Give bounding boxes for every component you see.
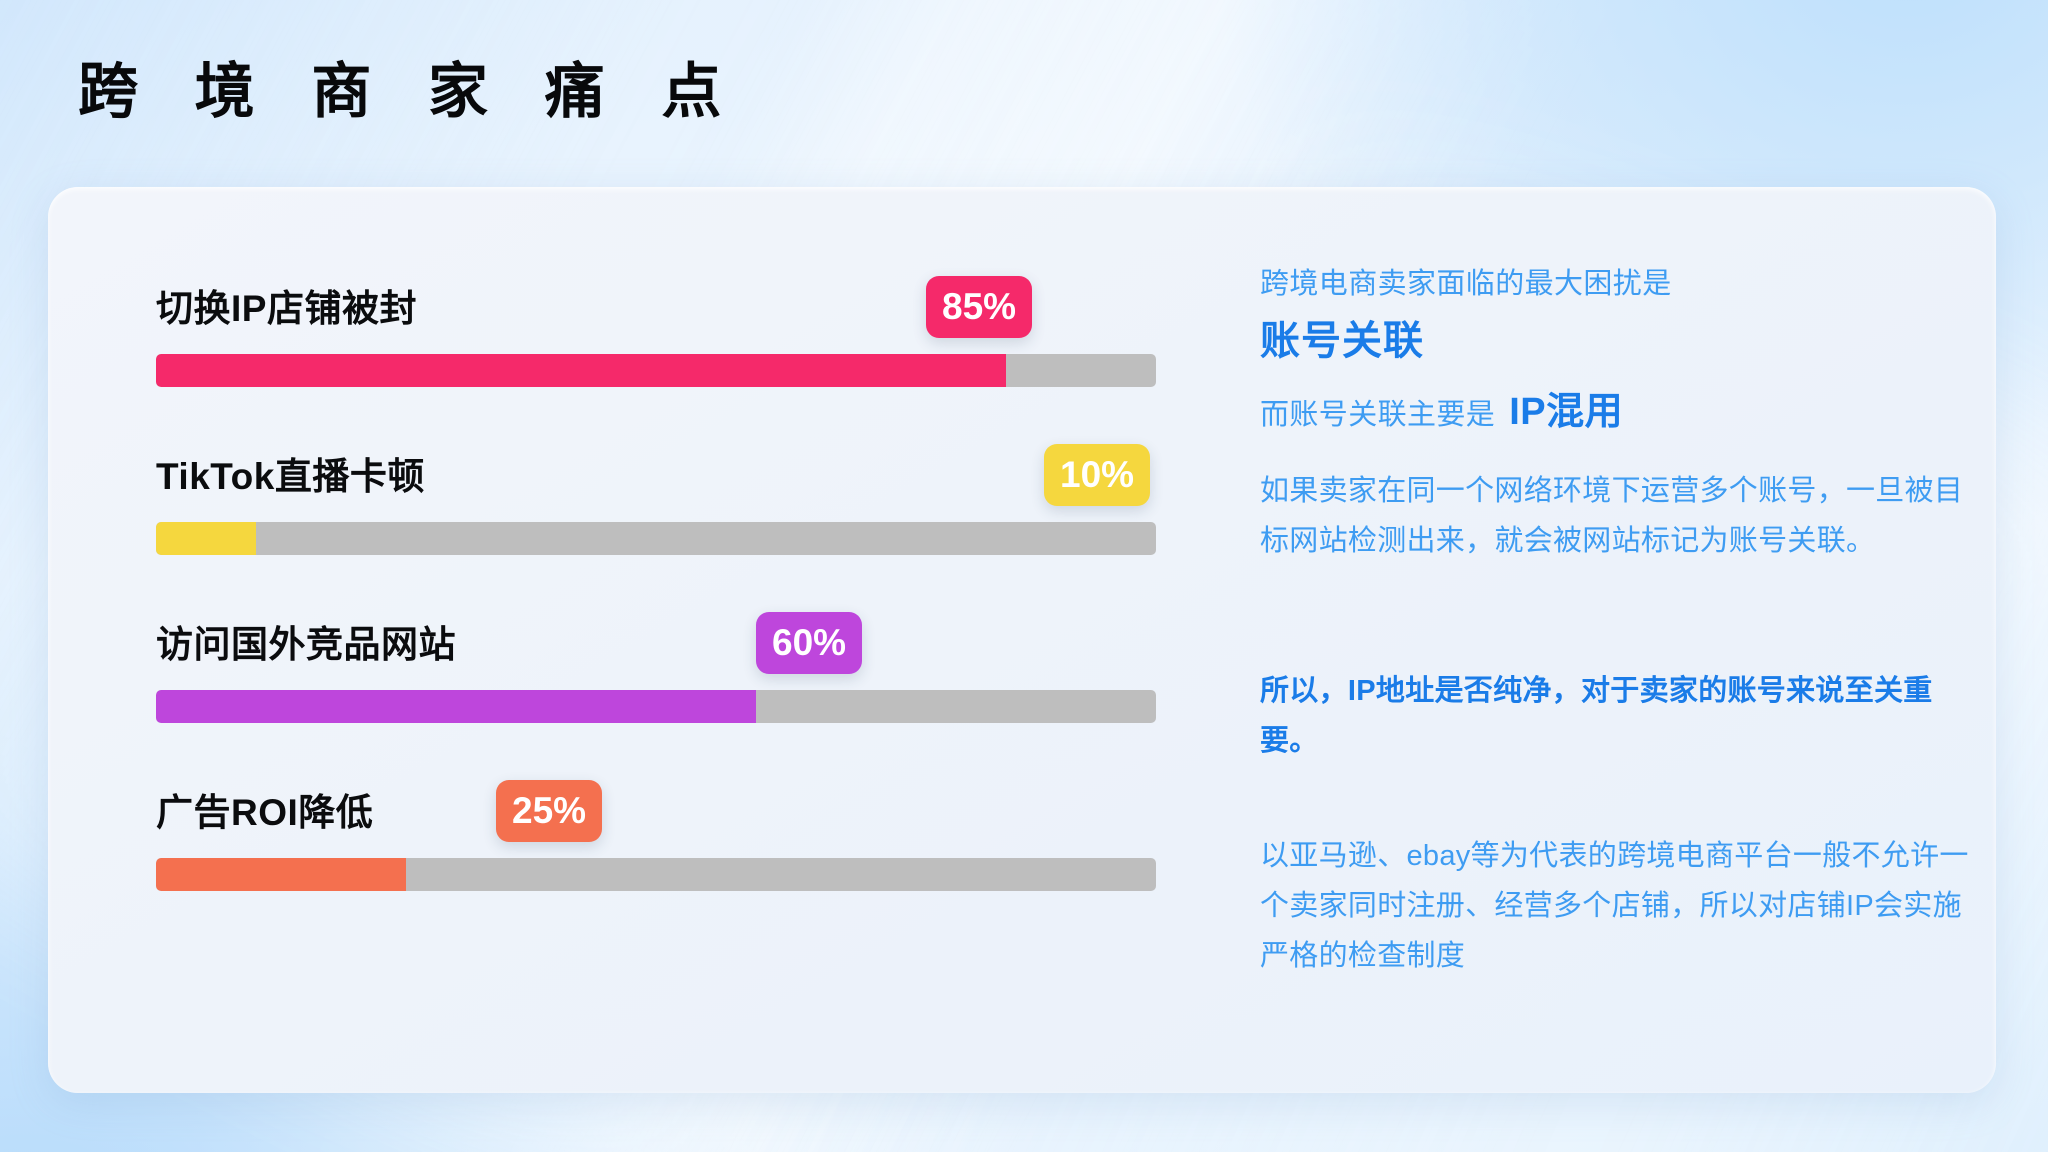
stat-progress-fill [156, 690, 756, 723]
explanation-paragraph-3: 以亚马逊、ebay等为代表的跨境电商平台一般不允许一个卖家同时注册、经营多个店铺… [1260, 832, 1990, 982]
stat-header: 广告ROI降低 25% [48, 751, 1178, 846]
mix-row: 而账号关联主要是 IP混用 [1260, 380, 2000, 439]
explanation-paragraph-1: 如果卖家在同一个网络环境下运营多个账号，一旦被目标网站检测出来，就会被网站标记为… [1260, 467, 1990, 567]
content-card: 切换IP店铺被封 85% TikTok直播卡顿 10% 访问国外竞品网站 60% [48, 187, 1996, 1093]
pain-point-stats-panel: 切换IP店铺被封 85% TikTok直播卡顿 10% 访问国外竞品网站 60% [48, 187, 1178, 1093]
hero-term: 账号关联 [1260, 314, 2000, 368]
stat-progress-track [156, 522, 1156, 555]
stat-progress-track [156, 690, 1156, 723]
mix-prefix: 而账号关联主要是 [1260, 392, 1495, 439]
stat-progress-track [156, 858, 1156, 891]
stat-value-badge: 25% [496, 780, 602, 842]
explanation-panel: 跨境电商卖家面临的最大困扰是 账号关联 而账号关联主要是 IP混用 如果卖家在同… [1212, 187, 1972, 1093]
stat-row: TikTok直播卡顿 10% [48, 415, 1178, 565]
page-title: 跨 境 商 家 痛 点 [78, 62, 741, 122]
stat-label: 广告ROI降低 [156, 782, 373, 836]
stat-value-badge: 85% [926, 276, 1032, 338]
stat-label: 访问国外竞品网站 [156, 614, 456, 668]
stat-row: 访问国外竞品网站 60% [48, 583, 1178, 733]
stat-header: 访问国外竞品网站 60% [48, 583, 1178, 678]
stat-progress-fill [156, 522, 256, 555]
stat-label: 切换IP店铺被封 [156, 278, 417, 332]
stat-row: 广告ROI降低 25% [48, 751, 1178, 901]
intro-block: 跨境电商卖家面临的最大困扰是 账号关联 而账号关联主要是 IP混用 [1260, 261, 2000, 439]
explanation-paragraph-2: 所以，IP地址是否纯净，对于卖家的账号来说至关重要。 [1260, 667, 1990, 767]
stat-value-badge: 10% [1044, 444, 1150, 506]
intro-line: 跨境电商卖家面临的最大困扰是 [1260, 261, 2000, 308]
stat-header: TikTok直播卡顿 10% [48, 415, 1178, 510]
stat-value-badge: 60% [756, 612, 862, 674]
stat-progress-fill [156, 858, 406, 891]
stat-progress-fill [156, 354, 1006, 387]
stat-progress-track [156, 354, 1156, 387]
stat-header: 切换IP店铺被封 85% [48, 247, 1178, 342]
mix-strong-term: IP混用 [1509, 380, 1623, 435]
stat-label: TikTok直播卡顿 [156, 446, 425, 500]
stat-row: 切换IP店铺被封 85% [48, 247, 1178, 397]
